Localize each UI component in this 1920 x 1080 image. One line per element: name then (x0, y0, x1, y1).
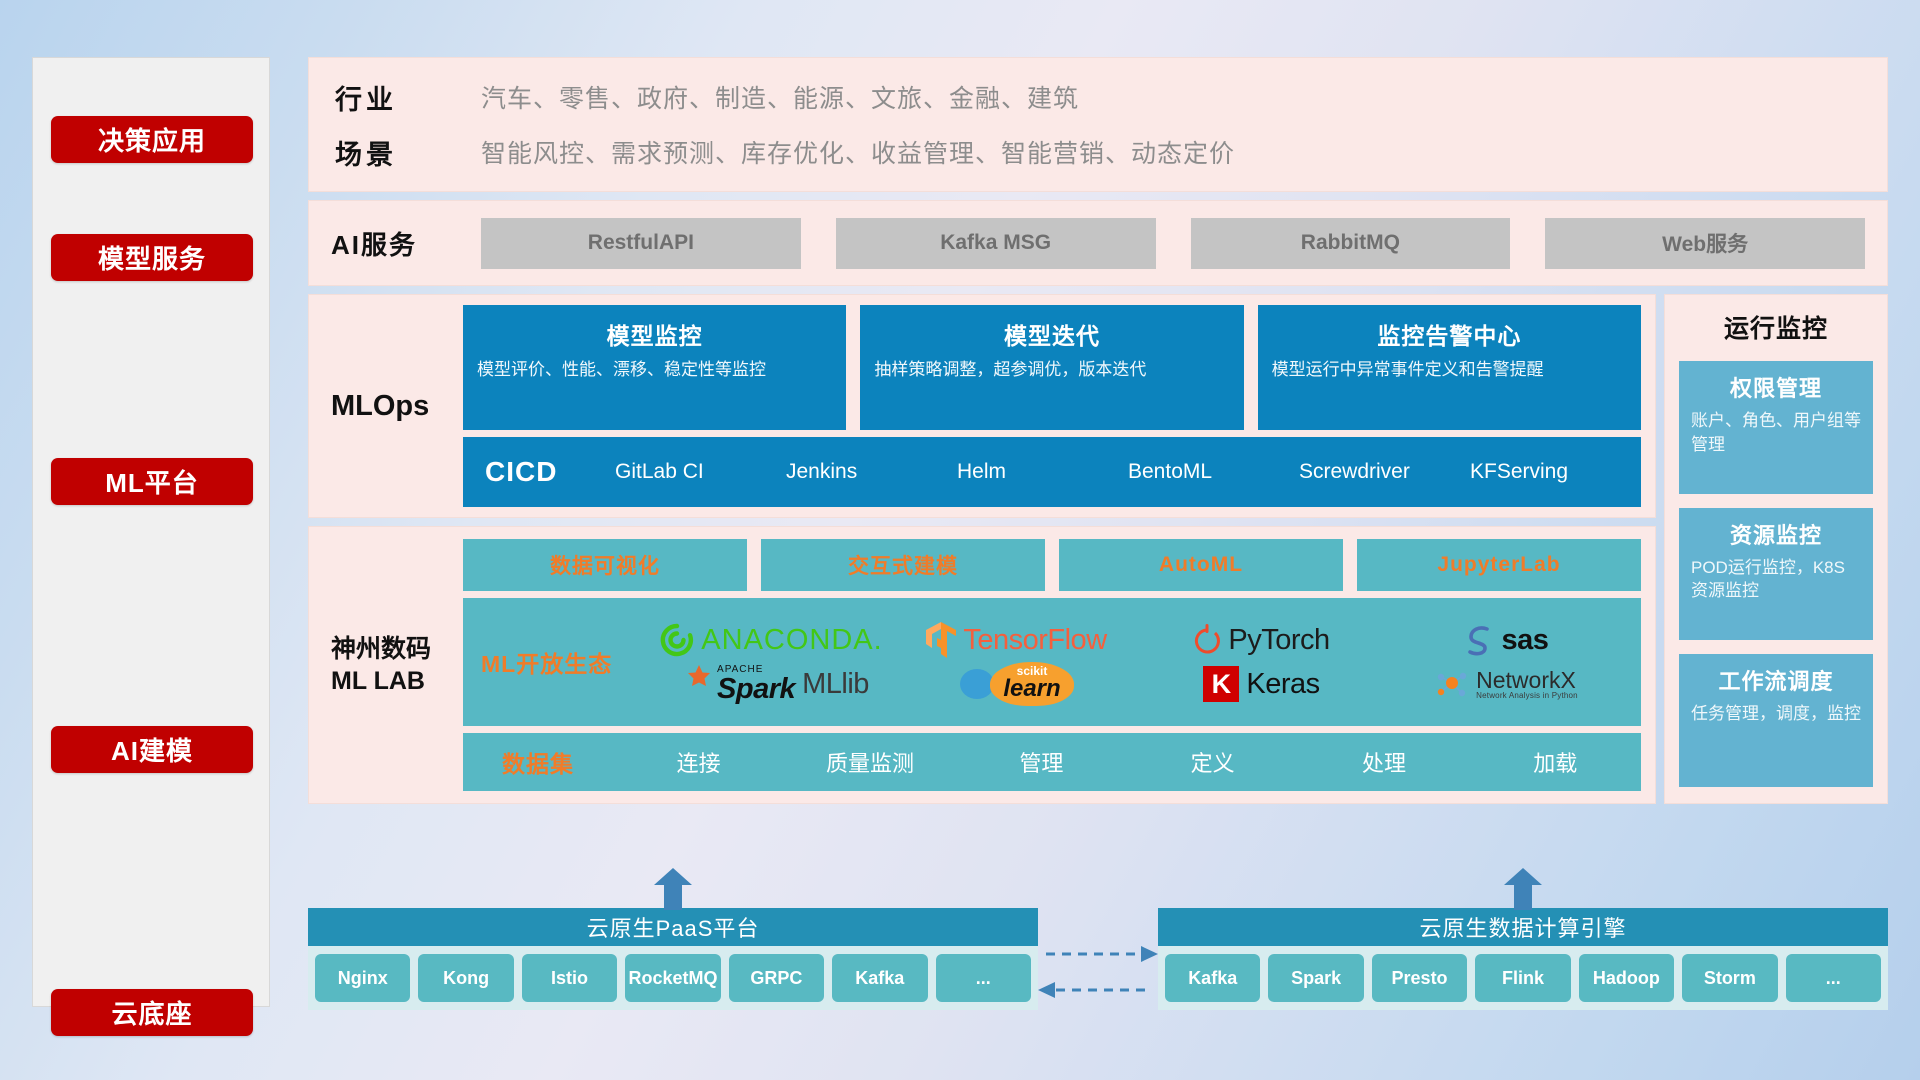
ops-monitor-card-desc: 账户、角色、用户组等管理 (1691, 409, 1861, 457)
ml-lab-tab-data-visualization[interactable]: 数据可视化 (463, 539, 747, 591)
networkx-mark-icon (1435, 668, 1469, 700)
tensorflow-wordmark: TensorFlow (963, 624, 1106, 657)
data-engine-up-arrow-icon (1504, 868, 1542, 910)
data-compute-engine-title: 云原生数据计算引擎 (1158, 908, 1888, 946)
pytorch-wordmark: PyTorch (1228, 624, 1329, 657)
ecosystem-logos: ANACONDA. TensorFlow (649, 618, 1629, 706)
paas-chip-kong[interactable]: Kong (418, 954, 513, 1002)
scenario-value: 智能风控、需求预测、库存优化、收益管理、智能营销、动态定价 (481, 134, 1235, 170)
paas-up-arrow-icon (654, 868, 692, 910)
ai-service-item-web-service[interactable]: Web服务 (1545, 218, 1865, 269)
application-row-industry: 行业 汽车、零售、政府、制造、能源、文旅、金融、建筑 (335, 78, 1887, 117)
middle-region: MLOps 模型监控 模型评价、性能、漂移、稳定性等监控 模型迭代 抽样策略调整… (308, 294, 1888, 812)
data-engine-chip-storm[interactable]: Storm (1682, 954, 1777, 1002)
mlops-card-desc: 模型运行中异常事件定义和告警提醒 (1272, 358, 1627, 383)
anaconda-mark-icon (660, 623, 694, 657)
sas-logo: sas (1465, 624, 1549, 657)
mlops-card-alert-center[interactable]: 监控告警中心 模型运行中异常事件定义和告警提醒 (1258, 305, 1641, 430)
ops-monitor-card-permission[interactable]: 权限管理 账户、角色、用户组等管理 (1679, 361, 1873, 494)
paas-platform-title: 云原生PaaS平台 (308, 908, 1038, 946)
data-engine-chip-flink[interactable]: Flink (1475, 954, 1570, 1002)
dataset-item-connect[interactable]: 连接 (613, 746, 784, 778)
ml-lab-label-line2: ML LAB (331, 665, 463, 698)
scikit-orange-blob: scikit learn (990, 662, 1073, 706)
paas-chip-grpc[interactable]: GRPC (729, 954, 824, 1002)
ops-monitor-band: 运行监控 权限管理 账户、角色、用户组等管理 资源监控 POD运行监控，K8S资… (1664, 294, 1888, 804)
ml-lab-tabs: 数据可视化 交互式建模 AutoML JupyterLab (463, 539, 1641, 591)
data-engine-chip-more[interactable]: ... (1786, 954, 1881, 1002)
cicd-item-helm[interactable]: Helm (957, 460, 1128, 484)
pytorch-mark-icon (1193, 624, 1221, 656)
cicd-item-jenkins[interactable]: Jenkins (786, 460, 957, 484)
spark-mllib-logo: APACHE Spark MLlib (674, 665, 869, 704)
ecosystem-label: ML开放生态 (481, 645, 649, 679)
cicd-item-kfserving[interactable]: KFServing (1470, 460, 1641, 484)
tensorflow-mark-icon (926, 622, 956, 658)
sas-wordmark: sas (1502, 624, 1549, 657)
ops-monitor-card-workflow[interactable]: 工作流调度 任务管理，调度，监控 (1679, 654, 1873, 787)
dataset-item-quality-monitoring[interactable]: 质量监测 (784, 746, 955, 778)
keras-mark-icon: K (1203, 666, 1239, 702)
scikit-learn-logo: scikit learn (959, 662, 1073, 706)
data-engine-chip-hadoop[interactable]: Hadoop (1579, 954, 1674, 1002)
sas-mark-icon (1465, 624, 1495, 656)
data-compute-engine-block: 云原生数据计算引擎 Kafka Spark Presto Flink Hadoo… (1158, 868, 1888, 1010)
stage-badge-cloud-base[interactable]: 云底座 (51, 989, 253, 1036)
ops-monitor-card-title: 权限管理 (1691, 371, 1861, 403)
application-rows: 行业 汽车、零售、政府、制造、能源、文旅、金融、建筑 场景 智能风控、需求预测、… (335, 78, 1887, 172)
ml-lab-label: 神州数码 ML LAB (331, 633, 463, 698)
ml-lab-stack: 数据可视化 交互式建模 AutoML JupyterLab ML开放生态 (463, 539, 1641, 791)
mlops-card-model-iteration[interactable]: 模型迭代 抽样策略调整，超参调优，版本迭代 (860, 305, 1243, 430)
data-engine-chip-presto[interactable]: Presto (1372, 954, 1467, 1002)
ops-monitor-card-desc: POD运行监控，K8S资源监控 (1691, 556, 1861, 604)
ecosystem-row: ML开放生态 ANACONDA. (463, 598, 1641, 726)
ai-service-item-restfulapi[interactable]: RestfulAPI (481, 218, 801, 269)
stage-badge-model-service[interactable]: 模型服务 (51, 234, 253, 281)
ml-lab-tab-automl[interactable]: AutoML (1059, 539, 1343, 591)
cicd-item-bentoml[interactable]: BentoML (1128, 460, 1299, 484)
networkx-wordmark: NetworkX (1476, 668, 1578, 692)
industry-value: 汽车、零售、政府、制造、能源、文旅、金融、建筑 (481, 79, 1079, 115)
application-band: 行业 汽车、零售、政府、制造、能源、文旅、金融、建筑 场景 智能风控、需求预测、… (308, 57, 1888, 192)
pytorch-logo: PyTorch (1193, 624, 1329, 657)
dataset-item-processing[interactable]: 处理 (1298, 746, 1469, 778)
data-engine-chip-kafka[interactable]: Kafka (1165, 954, 1260, 1002)
mlops-card-desc: 抽样策略调整，超参调优，版本迭代 (874, 358, 1229, 383)
ml-lab-label-line1: 神州数码 (331, 633, 463, 666)
ops-monitor-card-resource[interactable]: 资源监控 POD运行监控，K8S资源监控 (1679, 508, 1873, 641)
networkx-logo: NetworkX Network Analysis in Python (1435, 668, 1578, 701)
industry-label: 行业 (335, 78, 481, 117)
learn-label: learn (1003, 677, 1060, 701)
application-row-scenario: 场景 智能风控、需求预测、库存优化、收益管理、智能营销、动态定价 (335, 133, 1887, 172)
paas-chip-more[interactable]: ... (936, 954, 1031, 1002)
cloud-base-zone: 云原生PaaS平台 Nginx Kong Istio RocketMQ GRPC… (308, 868, 1888, 1020)
stage-badge-ai-modeling[interactable]: AI建模 (51, 726, 253, 773)
keras-logo: K Keras (1203, 666, 1319, 702)
mlops-band: MLOps 模型监控 模型评价、性能、漂移、稳定性等监控 模型迭代 抽样策略调整… (308, 294, 1656, 518)
main-column: 行业 汽车、零售、政府、制造、能源、文旅、金融、建筑 场景 智能风控、需求预测、… (308, 57, 1888, 812)
scenario-label: 场景 (335, 133, 481, 172)
networkx-wordmark-group: NetworkX Network Analysis in Python (1476, 668, 1578, 701)
mlops-cards: 模型监控 模型评价、性能、漂移、稳定性等监控 模型迭代 抽样策略调整，超参调优，… (463, 305, 1641, 430)
stage-badge-ml-platform[interactable]: ML平台 (51, 458, 253, 505)
mlops-card-desc: 模型评价、性能、漂移、稳定性等监控 (477, 358, 832, 383)
paas-chip-rocketmq[interactable]: RocketMQ (625, 954, 720, 1002)
dataset-bar: 数据集 连接 质量监测 管理 定义 处理 加载 (463, 733, 1641, 791)
spark-wordmark-group: APACHE Spark (717, 665, 795, 704)
mlops-card-title: 模型迭代 (874, 317, 1229, 351)
data-engine-chip-row: Kafka Spark Presto Flink Hadoop Storm ..… (1158, 946, 1888, 1010)
ai-service-label: AI服务 (331, 225, 481, 262)
dataset-item-loading[interactable]: 加载 (1470, 746, 1641, 778)
platform-stack: MLOps 模型监控 模型评价、性能、漂移、稳定性等监控 模型迭代 抽样策略调整… (308, 294, 1656, 812)
ai-service-item-kafka-msg[interactable]: Kafka MSG (836, 218, 1156, 269)
ai-service-item-rabbitmq[interactable]: RabbitMQ (1191, 218, 1511, 269)
networkx-tagline: Network Analysis in Python (1476, 692, 1578, 700)
cicd-label: CICD (485, 456, 615, 488)
mlops-card-title: 模型监控 (477, 317, 832, 351)
data-engine-chip-spark[interactable]: Spark (1268, 954, 1363, 1002)
paas-chip-row: Nginx Kong Istio RocketMQ GRPC Kafka ... (308, 946, 1038, 1010)
dataset-item-management[interactable]: 管理 (956, 746, 1127, 778)
paas-platform-block: 云原生PaaS平台 Nginx Kong Istio RocketMQ GRPC… (308, 868, 1038, 1010)
mlops-card-title: 监控告警中心 (1272, 317, 1627, 351)
mlops-label: MLOps (331, 390, 463, 423)
dataset-label: 数据集 (463, 745, 613, 779)
stage-column: 决策应用 模型服务 ML平台 AI建模 云底座 (32, 57, 270, 1007)
mlops-card-model-monitoring[interactable]: 模型监控 模型评价、性能、漂移、稳定性等监控 (463, 305, 846, 430)
ml-lab-band: 神州数码 ML LAB 数据可视化 交互式建模 AutoML JupyterLa… (308, 526, 1656, 804)
paas-chip-kafka[interactable]: Kafka (832, 954, 927, 1002)
stage-badge-decision-app[interactable]: 决策应用 (51, 116, 253, 163)
ai-service-items: RestfulAPI Kafka MSG RabbitMQ Web服务 (481, 218, 1865, 269)
ops-monitor-card-title: 工作流调度 (1691, 664, 1861, 696)
paas-chip-nginx[interactable]: Nginx (315, 954, 410, 1002)
anaconda-wordmark: ANACONDA. (701, 624, 882, 657)
spark-wordmark: Spark (717, 675, 795, 704)
ml-lab-tab-jupyterlab[interactable]: JupyterLab (1357, 539, 1641, 591)
ops-monitor-title: 运行监控 (1679, 309, 1873, 345)
spark-mark-icon (674, 665, 710, 703)
mlops-stack: 模型监控 模型评价、性能、漂移、稳定性等监控 模型迭代 抽样策略调整，超参调优，… (463, 305, 1641, 507)
paas-chip-istio[interactable]: Istio (522, 954, 617, 1002)
mllib-wordmark: MLlib (802, 668, 869, 701)
tensorflow-logo: TensorFlow (926, 622, 1106, 658)
anaconda-logo: ANACONDA. (660, 623, 882, 657)
cicd-item-screwdriver[interactable]: Screwdriver (1299, 460, 1470, 484)
cicd-item-gitlab-ci[interactable]: GitLab CI (615, 460, 786, 484)
ai-service-band: AI服务 RestfulAPI Kafka MSG RabbitMQ Web服务 (308, 200, 1888, 286)
dataset-item-definition[interactable]: 定义 (1127, 746, 1298, 778)
bidirectional-dashed-arrows-icon (1038, 938, 1158, 1008)
ops-monitor-card-desc: 任务管理，调度，监控 (1691, 702, 1861, 726)
ops-monitor-card-title: 资源监控 (1691, 518, 1861, 550)
cicd-bar: CICD GitLab CI Jenkins Helm BentoML Scre… (463, 437, 1641, 507)
ops-monitor-column: 运行监控 权限管理 账户、角色、用户组等管理 资源监控 POD运行监控，K8S资… (1664, 294, 1888, 812)
keras-wordmark: Keras (1246, 668, 1319, 701)
ml-lab-tab-interactive-modeling[interactable]: 交互式建模 (761, 539, 1045, 591)
